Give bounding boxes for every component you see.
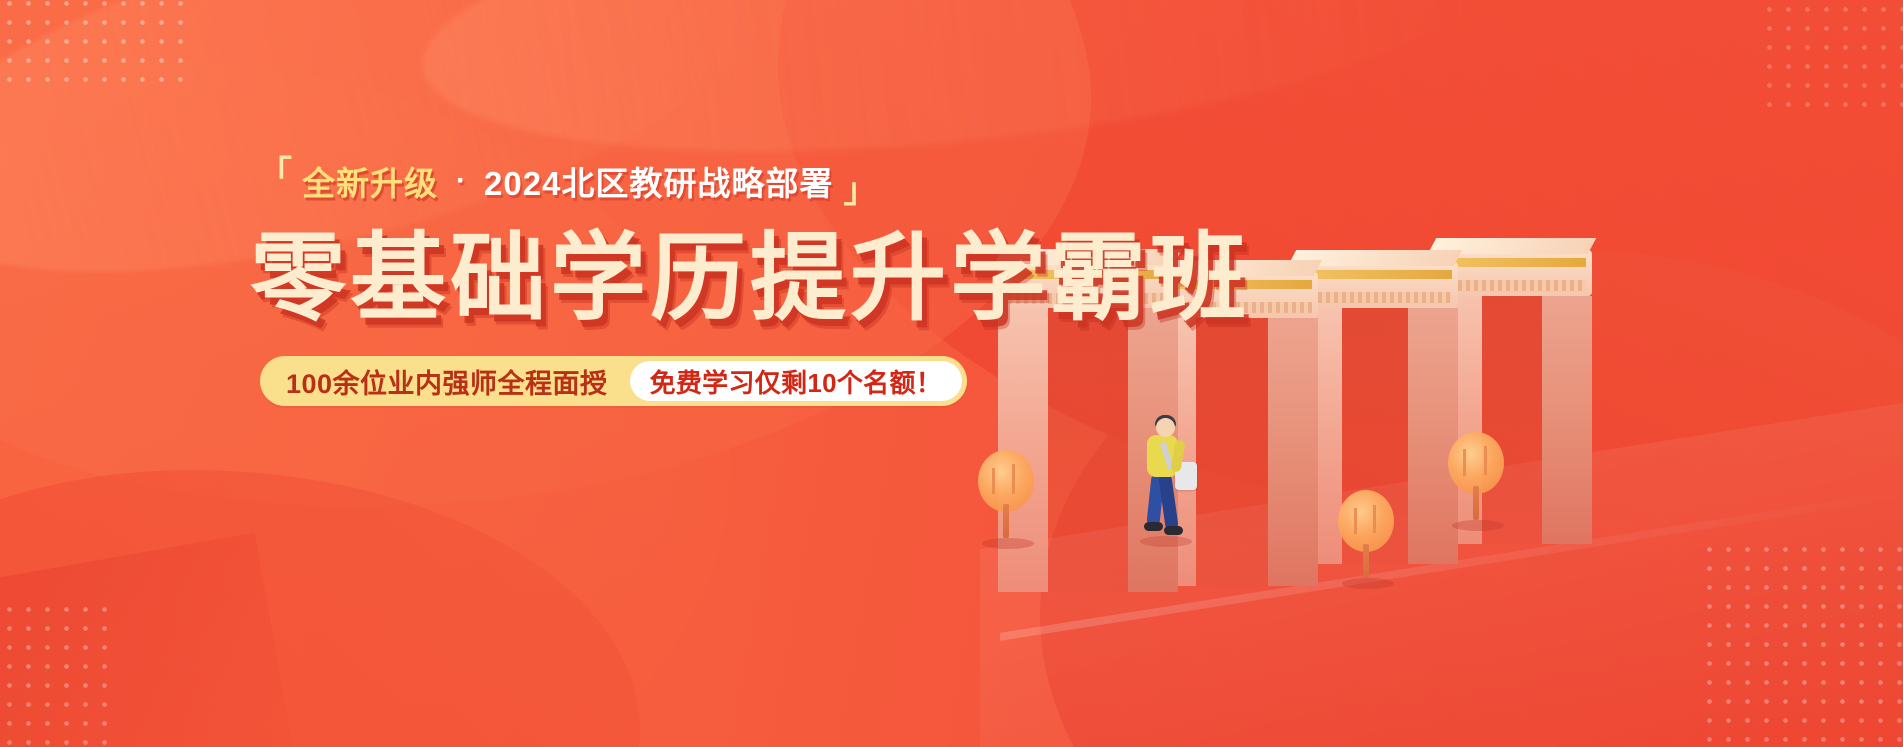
subtitle-separator-icon: · <box>456 164 466 198</box>
seats-badge: 免费学习仅剩10个名额！ <box>630 361 963 401</box>
offer-pill-text: 100余位业内强师全程面授 <box>286 362 630 401</box>
seats-badge-text: 免费学习仅剩10个名额！ <box>650 363 943 400</box>
banner-copy: 「 全新升级 · 2024北区教研战略部署 」 零基础学历提升学霸班 100余位… <box>0 0 1100 747</box>
subtitle-rest: 2024北区教研战略部署 <box>484 157 833 205</box>
bracket-open-icon: 「 <box>258 157 292 191</box>
walking-student-figure <box>1136 418 1196 548</box>
promo-banner: 「 全新升级 · 2024北区教研战略部署 」 零基础学历提升学霸班 100余位… <box>0 0 1903 747</box>
dot-pattern-bottom-right <box>1700 540 1903 747</box>
banner-headline: 零基础学历提升学霸班 <box>250 225 1250 333</box>
subtitle-highlight: 全新升级 <box>302 157 438 205</box>
bracket-close-icon: 」 <box>843 174 877 208</box>
dot-pattern-top-right <box>1760 0 1903 120</box>
banner-subtitle: 「 全新升级 · 2024北区教研战略部署 」 <box>258 158 877 204</box>
offer-pill: 100余位业内强师全程面授 免费学习仅剩10个名额！ <box>260 356 967 406</box>
